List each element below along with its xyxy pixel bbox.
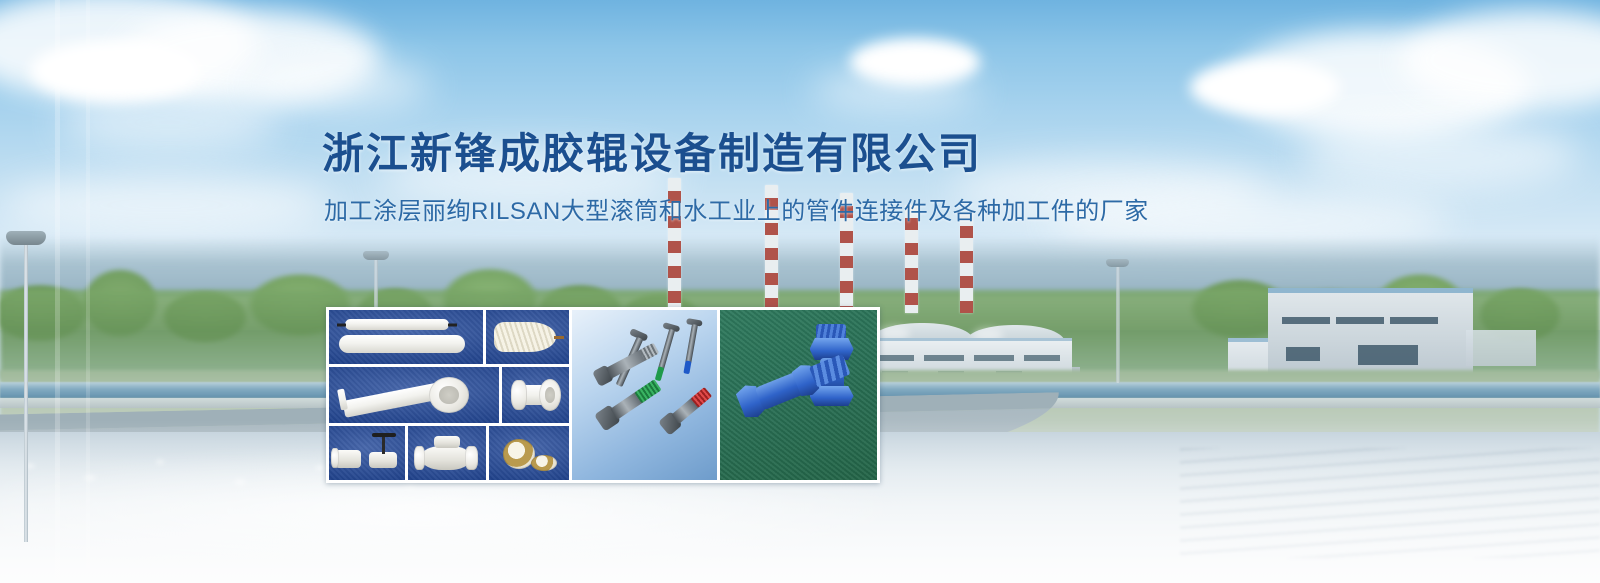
collage-row-3 bbox=[329, 426, 569, 480]
page-subtitle: 加工涂层丽绚RILSAN大型滚筒和水工业上的管件连接件及各种加工件的厂家 bbox=[324, 196, 1324, 227]
hero-banner: 浙江新锋成胶辊设备制造有限公司 加工涂层丽绚RILSAN大型滚筒和水工业上的管件… bbox=[0, 0, 1600, 583]
panel-coated-flanged-pipe[interactable] bbox=[329, 367, 499, 423]
gasket-large bbox=[503, 439, 535, 469]
valve-stem bbox=[382, 436, 385, 454]
page-title: 浙江新锋成胶辊设备制造有限公司 bbox=[322, 129, 1222, 179]
collage-row-1 bbox=[329, 310, 569, 364]
panel-short-flange-fitting[interactable] bbox=[502, 367, 569, 423]
panel-check-valve[interactable] bbox=[408, 426, 486, 480]
hand-wheel bbox=[372, 433, 396, 437]
panel-gasket-set[interactable] bbox=[489, 426, 569, 480]
valve-bonnet bbox=[434, 436, 460, 448]
perforated-roller bbox=[494, 322, 556, 352]
panel-blue-coated-bolts[interactable] bbox=[720, 310, 877, 480]
collage-left-column bbox=[329, 310, 569, 480]
roller bbox=[345, 319, 449, 330]
glass-pane-seams bbox=[0, 0, 1600, 583]
panel-rubber-rollers[interactable] bbox=[329, 310, 483, 364]
panel-coated-bolts[interactable] bbox=[572, 310, 717, 480]
gate-valve-body bbox=[369, 452, 397, 468]
check-valve-body bbox=[422, 446, 470, 470]
pipe-flange bbox=[429, 377, 469, 413]
gasket-small bbox=[531, 455, 557, 471]
panel-y-strainer-gate-valve[interactable] bbox=[329, 426, 405, 480]
fitting-flange bbox=[539, 379, 561, 411]
panel-perforated-roller[interactable] bbox=[486, 310, 569, 364]
product-photo-collage[interactable] bbox=[326, 307, 880, 483]
roller bbox=[339, 335, 465, 353]
fitting-flange bbox=[511, 380, 527, 410]
collage-row-2 bbox=[329, 367, 569, 423]
